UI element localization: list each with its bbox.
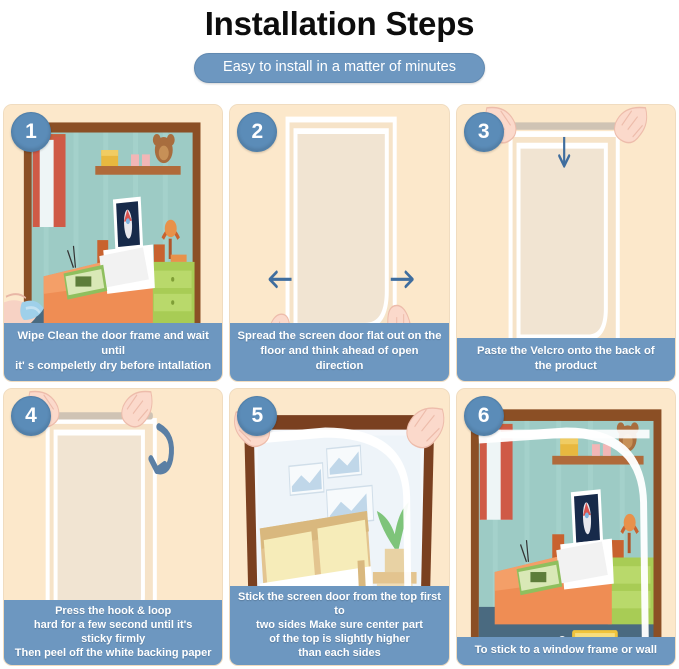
step-panel-5: 5 Stick the screen door from the top fir… — [229, 388, 449, 666]
caption-line: floor and think ahead of open direction — [236, 344, 442, 374]
step-panel-1: 1 Wipe Clean the door frame and wait unt… — [3, 104, 223, 382]
subtitle-pill: Easy to install in a matter of minutes — [194, 53, 485, 83]
caption-line: Stick the screen door from the top first… — [234, 590, 444, 618]
caption-line: two sides Make sure center part — [234, 618, 444, 632]
step-caption-5: Stick the screen door from the top first… — [230, 586, 448, 665]
caption-line: Wipe Clean the door frame and wait until — [10, 329, 216, 359]
page-title: Installation Steps — [0, 4, 679, 44]
step-number-4: 4 — [11, 396, 51, 436]
caption-line: Paste the Velcro onto the back of — [463, 344, 669, 359]
caption-line: Then peel off the white backing paper — [8, 646, 218, 660]
step-panel-4: 4 Press the hook & loop hard for a few s… — [3, 388, 223, 666]
step-panel-2: 2 Spread the screen door flat out on the… — [229, 104, 449, 382]
steps-grid: 1 Wipe Clean the door frame and wait unt… — [3, 104, 676, 666]
step-panel-6: 6 To stick to a window frame or wall — [456, 388, 676, 666]
caption-line: Spread the screen door flat out on the — [236, 329, 442, 344]
step-caption-2: Spread the screen door flat out on the f… — [230, 323, 448, 381]
caption-line: of the top is slightly higher — [234, 632, 444, 646]
step-caption-3: Paste the Velcro onto the back of the pr… — [457, 338, 675, 381]
step-number-6: 6 — [464, 396, 504, 436]
installation-steps-infographic: Installation Steps Easy to install in a … — [0, 0, 679, 669]
caption-line: it' s compeletly dry before intallation — [10, 359, 216, 374]
caption-line: To stick to a window frame or wall — [463, 643, 669, 658]
step-caption-6: To stick to a window frame or wall — [457, 637, 675, 665]
caption-line: than each sides — [234, 646, 444, 660]
header: Installation Steps Easy to install in a … — [0, 0, 679, 83]
step-panel-3: 3 Paste the Velcro onto the back of the … — [456, 104, 676, 382]
step-number-3: 3 — [464, 112, 504, 152]
caption-line: the product — [463, 359, 669, 374]
step-number-1: 1 — [11, 112, 51, 152]
caption-line: sticky firmly — [8, 632, 218, 646]
caption-line: hard for a few second until it's — [8, 618, 218, 632]
subtitle-container: Easy to install in a matter of minutes — [0, 53, 679, 83]
caption-line: Press the hook & loop — [8, 604, 218, 618]
step-caption-1: Wipe Clean the door frame and wait until… — [4, 323, 222, 381]
step-caption-4: Press the hook & loop hard for a few sec… — [4, 600, 222, 665]
